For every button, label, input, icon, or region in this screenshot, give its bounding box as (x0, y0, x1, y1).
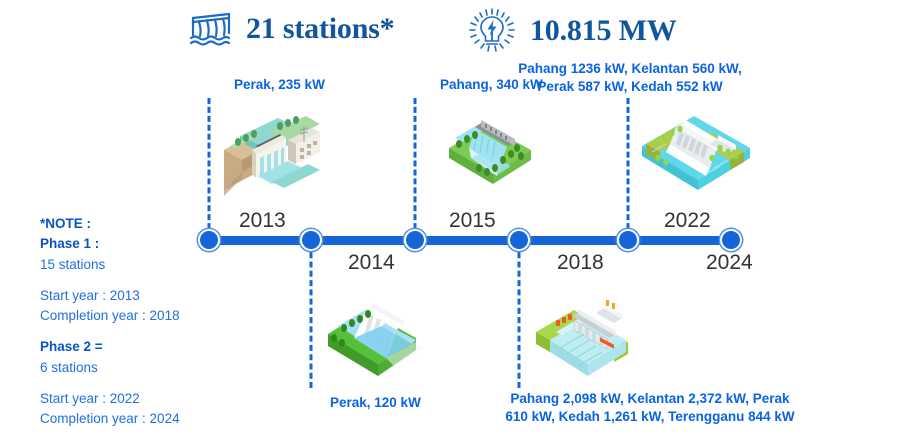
timeline-node-2014[interactable] (300, 229, 322, 251)
lightbulb-icon (466, 6, 518, 56)
year-label-2018: 2018 (557, 251, 604, 275)
label-phase1-bottom: Pahang 2,098 kW, Kelantan 2,372 kW, Pera… (475, 390, 825, 426)
note-phase1-completion: Completion year : 2018 (40, 306, 220, 326)
note-phase1-label: Phase 1 : (40, 236, 99, 251)
timeline-axis (209, 236, 731, 245)
year-label-2014: 2014 (348, 251, 395, 275)
header-stations: 21 stations* (188, 8, 394, 50)
connector-2022 (627, 98, 630, 238)
note-phase2-completion: Completion year : 2024 (40, 409, 220, 429)
infographic-canvas: 21 stations* (0, 0, 912, 442)
connector-2013 (208, 98, 211, 238)
dam-illustration-2015 (441, 106, 539, 198)
year-label-2024: 2024 (706, 251, 753, 275)
note-phase2-label: Phase 2 = (40, 339, 103, 354)
connector-2018 (518, 243, 521, 388)
timeline-node-2015[interactable] (404, 229, 426, 251)
timeline-node-2024[interactable] (720, 229, 742, 251)
dam-illustration-2014 (320, 286, 434, 390)
timeline-node-2022[interactable] (617, 229, 639, 251)
stations-count-text: 21 stations* (246, 12, 394, 46)
year-label-2013: 2013 (239, 209, 286, 233)
label-phase1-bottom-line1: Pahang 2,098 kW, Kelantan 2,372 kW, Pera… (475, 390, 825, 408)
year-label-2022: 2022 (664, 209, 711, 233)
label-phase1-bottom-line2: 610 kW, Kedah 1,261 kW, Terengganu 844 k… (475, 408, 825, 426)
dam-illustration-2013 (216, 106, 328, 200)
dam-icon (188, 8, 234, 50)
note-phase2-stations: 6 stations (40, 358, 220, 378)
label-perak-120: Perak, 120 kW (330, 394, 421, 412)
label-phase2-top-line2: Perak 587 kW, Kedah 552 kW (511, 78, 749, 96)
connector-2014 (310, 243, 313, 388)
year-label-2015: 2015 (449, 209, 496, 233)
connector-2015 (414, 98, 417, 238)
dam-illustration-2022 (636, 102, 756, 198)
timeline-node-2018[interactable] (508, 229, 530, 251)
label-perak-235: Perak, 235 kW (234, 76, 325, 94)
note-block: *NOTE : Phase 1 : 15 stations Start year… (40, 214, 220, 429)
capacity-text: 10.815 MW (530, 14, 677, 48)
note-title: *NOTE : (40, 216, 91, 231)
label-phase2-top: Pahang 1236 kW, Kelantan 560 kW, Perak 5… (511, 60, 749, 96)
note-phase2-start: Start year : 2022 (40, 389, 220, 409)
timeline-node-2013[interactable] (198, 229, 220, 251)
dam-illustration-2018 (526, 286, 640, 390)
header-capacity: 10.815 MW (466, 6, 677, 56)
note-phase1-start: Start year : 2013 (40, 286, 220, 306)
note-phase1-stations: 15 stations (40, 255, 220, 275)
label-phase2-top-line1: Pahang 1236 kW, Kelantan 560 kW, (511, 60, 749, 78)
